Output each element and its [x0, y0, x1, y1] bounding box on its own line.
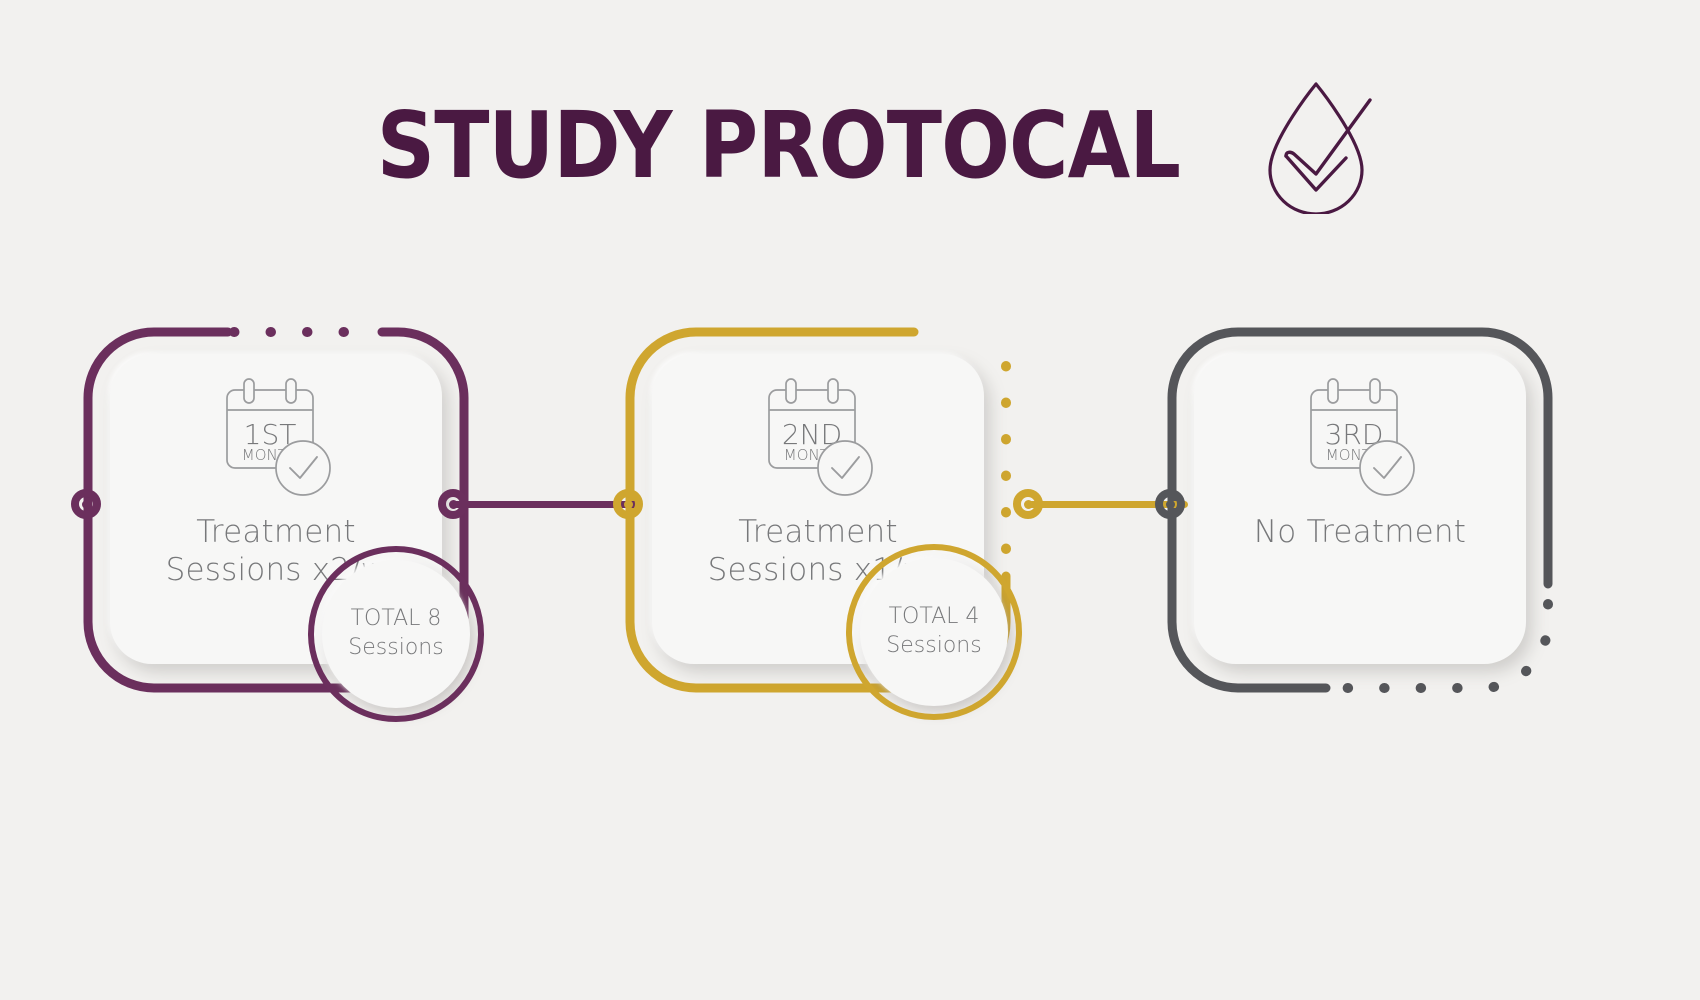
connector-node-2-right[interactable]	[1013, 489, 1043, 519]
stage-card-2[interactable]: 2ND MONTH Treatment Sessions x1/w TOTAL …	[628, 330, 1008, 690]
connector-node-start[interactable]	[71, 489, 101, 519]
calendar-check-icon: 3RD MONTH	[1297, 376, 1423, 504]
protocol-timeline: 1ST MONTH Treatment Sessions x2/w TOTAL …	[0, 330, 1700, 730]
badge-text-1: TOTAL 8 Sessions	[348, 605, 443, 662]
stage-label-line1: Treatment	[196, 514, 356, 550]
stage-card-3[interactable]: 3RD MONTH No Treatment	[1170, 330, 1550, 690]
stage-card-1[interactable]: 1ST MONTH Treatment Sessions x2/w TOTAL …	[86, 330, 466, 690]
calendar-check-icon: 1ST MONTH	[213, 376, 339, 504]
connector-node-3-left[interactable]	[1155, 489, 1185, 519]
connector-node-1-right[interactable]	[438, 489, 468, 519]
badge-text-2: TOTAL 4 Sessions	[886, 603, 981, 660]
droplet-checkmark-icon	[1254, 78, 1378, 214]
stage-label-line1: Treatment	[738, 514, 898, 550]
stage-label-line1: No Treatment	[1254, 514, 1466, 550]
stage-card-body-3: 3RD MONTH No Treatment	[1194, 354, 1526, 664]
stage-label-3: No Treatment	[1254, 514, 1466, 552]
total-sessions-badge-2[interactable]: TOTAL 4 Sessions	[846, 544, 1022, 720]
badge-line2: Sessions	[348, 634, 443, 663]
total-sessions-badge-1[interactable]: TOTAL 8 Sessions	[308, 546, 484, 722]
calendar-check-icon: 2ND MONTH	[755, 376, 881, 504]
connector-node-2-left[interactable]	[613, 489, 643, 519]
badge-line2: Sessions	[886, 632, 981, 661]
badge-line1: TOTAL 8	[348, 605, 443, 634]
page-header: STUDY PROTOCAL	[0, 78, 1700, 214]
page-title: STUDY PROTOCAL	[376, 100, 1179, 192]
badge-line1: TOTAL 4	[886, 603, 981, 632]
